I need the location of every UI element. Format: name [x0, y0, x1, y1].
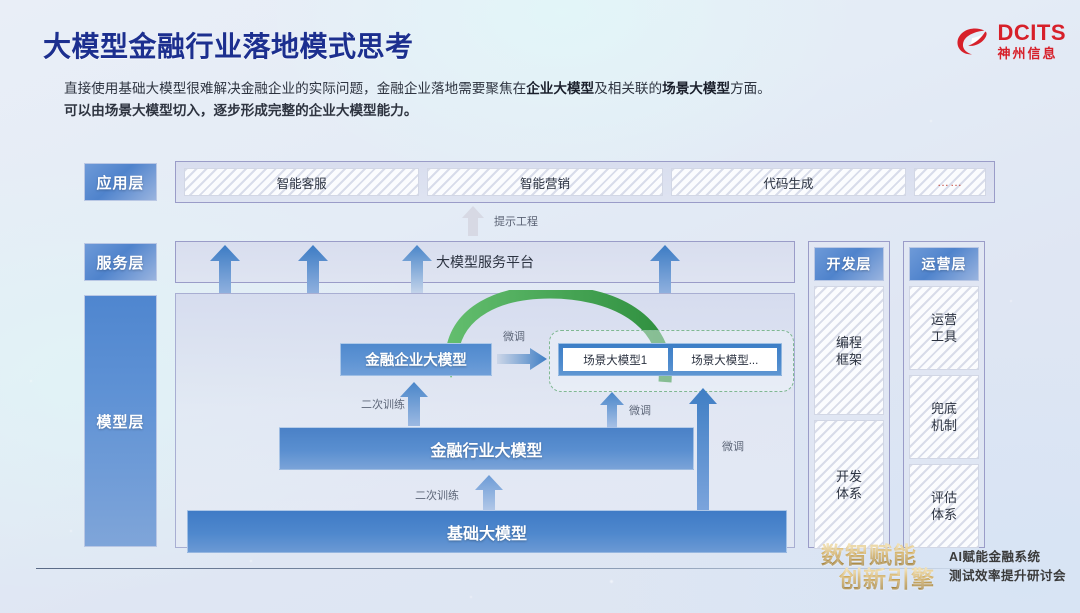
ops-cell-fallback[interactable]: 兜底机制: [909, 375, 979, 459]
right-arrow-icon: [497, 348, 547, 370]
dev-cell-system-label: 开发体系: [836, 468, 862, 502]
ops-cell-tools-label: 运营工具: [931, 311, 957, 345]
retrain-label-1: 二次训练: [361, 396, 405, 412]
up-arrow-icon-1: [210, 245, 240, 293]
finetune-label-3: 微调: [722, 438, 744, 454]
layer-label-application: 应用层: [84, 163, 157, 201]
operations-layer-header: 运营层: [909, 247, 979, 281]
dev-cell-framework[interactable]: 编程框架: [814, 286, 884, 415]
up-arrow-icon-2: [298, 245, 328, 293]
finetune-label-1: 微调: [503, 328, 525, 344]
up-arrow-icon-finetune-2: [600, 392, 624, 428]
up-arrow-icon-4: [650, 245, 680, 293]
app-box-code-generation[interactable]: 代码生成: [671, 168, 906, 196]
dev-cell-system[interactable]: 开发体系: [814, 420, 884, 549]
up-arrow-icon-finetune-3: [689, 388, 717, 510]
service-platform-label: 大模型服务平台: [436, 252, 534, 272]
logo-en: DCITS: [998, 22, 1067, 44]
development-layer-panel: 开发层 编程框架 开发体系: [808, 241, 890, 548]
ops-cell-fallback-label: 兜底机制: [931, 400, 957, 434]
subtitle-text-2: 及相关联的: [594, 81, 662, 96]
dev-cell-framework-label: 编程框架: [836, 334, 862, 368]
application-layer-panel: 智能客服 智能营销 代码生成 ……: [175, 161, 995, 203]
scenario-model-1[interactable]: 场景大模型1: [563, 348, 668, 371]
layer-label-service: 服务层: [84, 243, 157, 281]
event-slogan: 数智赋能 创新引擎: [821, 543, 935, 591]
operations-layer-panel: 运营层 运营工具 兜底机制 评估体系: [903, 241, 985, 548]
dcits-logo: DCITS 神州信息: [953, 22, 1067, 60]
app-box-customer-service[interactable]: 智能客服: [184, 168, 419, 196]
architecture-diagram: 应用层 服务层 模型层 智能客服 智能营销 代码生成 …… 提示工程 大模型服务…: [0, 150, 1080, 570]
logo-cn: 神州信息: [998, 47, 1067, 60]
ops-cell-evaluation-label: 评估体系: [931, 489, 957, 523]
event-meta: AI赋能金融系统 测试效率提升研讨会: [949, 548, 1066, 586]
service-layer-panel: 大模型服务平台: [175, 241, 795, 283]
up-arrow-icon-3: [402, 245, 432, 293]
retrain-label-2: 二次训练: [415, 487, 459, 503]
scenario-model-group: 场景大模型1 场景大模型...: [558, 343, 782, 376]
dcits-wordmark: DCITS 神州信息: [998, 22, 1067, 60]
event-meta-line-1: AI赋能金融系统: [949, 548, 1066, 567]
subtitle-line-2: 可以由场景大模型切入，逐步形成完整的企业大模型能力。: [64, 100, 964, 122]
model-box-enterprise[interactable]: 金融企业大模型: [340, 343, 492, 376]
layer-label-model: 模型层: [84, 295, 157, 547]
subtitle: 直接使用基础大模型很难解决金融企业的实际问题，金融企业落地需要聚焦在企业大模型及…: [64, 78, 964, 122]
subtitle-text-1: 直接使用基础大模型很难解决金融企业的实际问题，金融企业落地需要聚焦在: [64, 81, 526, 96]
up-arrow-icon: [462, 206, 484, 236]
prompt-engineering-label: 提示工程: [494, 213, 538, 229]
ops-cell-evaluation[interactable]: 评估体系: [909, 464, 979, 548]
slide-header: 大模型金融行业落地模式思考 直接使用基础大模型很难解决金融企业的实际问题，金融企…: [0, 0, 1080, 150]
subtitle-emph-1: 企业大模型: [526, 81, 594, 96]
footer: 数智赋能 创新引擎 AI赋能金融系统 测试效率提升研讨会: [821, 543, 1066, 591]
finetune-label-2: 微调: [629, 402, 651, 418]
development-layer-header: 开发层: [814, 247, 884, 281]
app-box-more[interactable]: ……: [914, 168, 986, 196]
dcits-swirl-icon: [953, 22, 991, 60]
app-box-marketing[interactable]: 智能营销: [427, 168, 662, 196]
prompt-engineering-connector: 提示工程: [462, 206, 538, 236]
subtitle-emph-2: 场景大模型: [662, 81, 730, 96]
slogan-line-1: 数智赋能: [821, 543, 935, 567]
event-meta-line-2: 测试效率提升研讨会: [949, 567, 1066, 586]
subtitle-text-3: 方面。: [730, 81, 771, 96]
scenario-model-2[interactable]: 场景大模型...: [673, 348, 778, 371]
page-title: 大模型金融行业落地模式思考: [43, 25, 414, 65]
model-box-base[interactable]: 基础大模型: [187, 510, 787, 553]
ops-cell-tools[interactable]: 运营工具: [909, 286, 979, 370]
model-box-industry[interactable]: 金融行业大模型: [279, 427, 694, 470]
slogan-line-2: 创新引擎: [839, 567, 935, 591]
up-arrow-icon-retrain-2: [475, 475, 503, 511]
